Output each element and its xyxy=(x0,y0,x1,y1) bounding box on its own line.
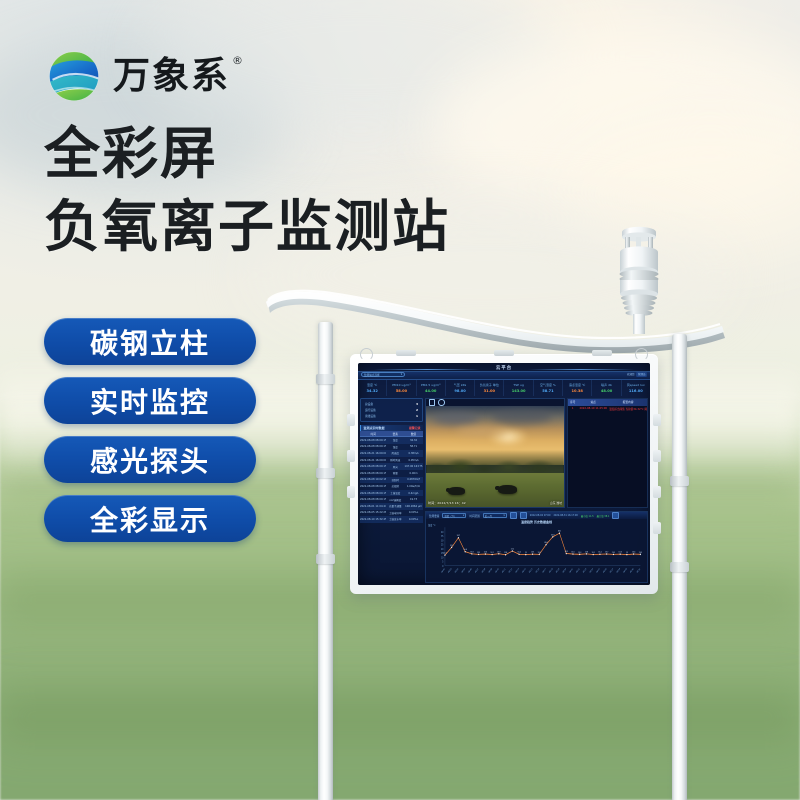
chart-x-tick: 08-04 xyxy=(455,567,460,573)
table-cell: 0.38m/s xyxy=(404,452,423,455)
chart-point-label: 13.2 xyxy=(538,552,541,554)
chart-plot-area: 温度 ℃ 051015202530354012.308-0221.508-033… xyxy=(428,524,645,581)
table-cell: 湿度 xyxy=(386,445,404,449)
chart-point-label: 13.9 xyxy=(497,551,501,553)
table-cell: 2022-08-08 08:00:15 xyxy=(360,492,386,495)
chart-point-label: 32.7 xyxy=(457,535,460,537)
chart-x-tick: 08-13 xyxy=(515,568,519,574)
station-select-value: 监测站点选择 xyxy=(364,373,380,377)
table-cell: 温度 xyxy=(386,438,404,442)
table-cell: 光量子通量 xyxy=(386,504,404,508)
table-row[interactable]: 2022-08-08 08:00:15co2溶解度19.73 xyxy=(360,496,423,503)
metric-9: 噪声 db48.00 xyxy=(592,380,621,396)
user-welcome: 欢迎您 xyxy=(627,372,635,376)
headline-line-1: 全彩屏 xyxy=(44,126,450,185)
camera-timestamp: 时间：2022/7/13 16：42 xyxy=(428,501,466,505)
metric-label: PM2.5 ug/m³ xyxy=(421,383,440,387)
ultrasonic-weather-sensor xyxy=(610,222,668,334)
metric-label: 空气湿度 % xyxy=(540,383,556,387)
table-cell: 2022-08-08 08:00:15 xyxy=(360,472,386,475)
chart-point-label: 13 xyxy=(525,552,527,554)
table-row[interactable]: 2022-08-08 08:00:15温度34.32 xyxy=(360,437,423,444)
status-value: 3 xyxy=(416,402,418,406)
chart-x-tick: 08-10 xyxy=(495,567,500,573)
alarm-row[interactable]: 12022-08-10 11:25:00温度超出阈值 当前值34.32℃ 阈值3… xyxy=(568,406,647,412)
chart-point-label: 13.5 xyxy=(619,551,622,553)
table-cell: 风向 xyxy=(386,465,404,469)
cabinet-tab xyxy=(396,350,416,356)
chart-x-tick: 08-12 xyxy=(509,568,513,574)
table-cell: 日照时 xyxy=(386,478,404,482)
chart-point-label: 17.2 xyxy=(511,548,514,550)
alarm-cell: 1 xyxy=(568,407,577,410)
chart-x-tick: 08-29 xyxy=(623,567,628,573)
alarm-col-station: 站点 xyxy=(577,400,609,404)
chart-x-tick: 08-28 xyxy=(616,567,621,573)
table-cell: 19.73 xyxy=(404,498,423,501)
table-cell: 0.95m/s xyxy=(404,459,423,462)
chart-x-tick: 08-11 xyxy=(502,568,506,574)
status-value: 1 xyxy=(416,414,418,418)
status-key: 离线设备 xyxy=(365,414,376,418)
metric-label: 温度 ℃ xyxy=(367,383,377,387)
table-cell: 1.00w/h/m xyxy=(404,485,423,488)
chart-point-label: 13.8 xyxy=(470,551,474,553)
chart-point-label: 13.4 xyxy=(598,552,602,554)
chart-point-label: 16.4 xyxy=(464,549,468,551)
metric-label: 噪声 db xyxy=(601,383,612,387)
table-cell: 瞬时风速 xyxy=(386,458,404,462)
chevron-down-icon: ▾ xyxy=(401,373,402,376)
table-cell: 2022-08-08 08:00:15 xyxy=(360,445,386,448)
metric-2: PM10 ug/m³58.00 xyxy=(387,380,416,396)
display-cabinet: 云平台 监测站点选择 ▾ 欢迎您 管理员 温度 ℃34.32PM10 ug/m³… xyxy=(350,354,658,594)
chart-x-tick: 08-23 xyxy=(583,568,587,574)
feature-pill-full-color-display[interactable]: 全彩显示 xyxy=(44,495,256,542)
chart-controls: 监测要素 温度（℃） ▾ 时间范围 近一月 ▾ 2022-08-02 07:00 xyxy=(426,512,647,519)
table-row[interactable]: 2022-08-10 15:32:45土壤含水率0.00%L xyxy=(360,516,423,523)
chart-x-tick: 08-26 xyxy=(603,567,608,573)
table-cell: 2022-08-05 15:22:28 xyxy=(360,511,386,514)
table-cell: 2022-08-08 08:00:15 xyxy=(360,485,386,488)
chart-point-label: 13.3 xyxy=(639,552,642,554)
chart-x-tick: 08-15 xyxy=(529,568,533,574)
chart-point-label: 13.1 xyxy=(490,552,493,554)
chart-point-label: 13.6 xyxy=(571,551,575,553)
column-header-time: 时间 xyxy=(360,432,386,436)
chevron-down-icon: ▾ xyxy=(463,514,464,517)
metric-value: 98.00 xyxy=(454,389,465,393)
chart-x-tick: 08-07 xyxy=(475,568,479,574)
chart-x-tick: 08-30 xyxy=(630,567,635,573)
table-cell: co2溶解度 xyxy=(386,498,404,502)
metric-strip: 温度 ℃34.32PM10 ug/m³58.00PM2.5 ug/m³44.00… xyxy=(358,380,650,396)
status-key: 运行设备 xyxy=(365,408,376,412)
device-status-row: 离线设备1 xyxy=(365,414,418,418)
chart-y-tick: 35 xyxy=(441,535,444,538)
chart-element-select[interactable]: 温度（℃） ▾ xyxy=(442,513,466,518)
table-row[interactable]: 2022-08-08 10:02:18日照时0.0876lx/f xyxy=(360,477,423,484)
chart-y-unit: 温度 ℃ xyxy=(428,523,436,527)
metric-value: 10.38 xyxy=(572,389,583,393)
post-joint xyxy=(670,476,689,486)
table-row[interactable]: 2022-08-21 16:00:00瞬时风速0.95m/s xyxy=(360,457,423,464)
table-cell: 106.1864 μm xyxy=(404,505,423,508)
globe-swoosh-logo-icon xyxy=(44,44,104,106)
column-header-value: 数值 xyxy=(404,432,423,436)
chart-element-value: 温度（℃） xyxy=(444,514,456,518)
chart-point-label: 12.3 xyxy=(443,552,446,554)
table-row[interactable]: 2022-08-08 08:00:15湿度58.71 xyxy=(360,444,423,451)
status-key: 总设备 xyxy=(365,402,373,406)
trend-line-chart: 051015202530354012.308-0221.508-0332.708… xyxy=(428,524,645,581)
cabinet-vent xyxy=(653,522,661,534)
chart-point-label: 21.5 xyxy=(450,545,453,547)
table-cell: 34.32 xyxy=(404,439,423,442)
feature-pill-carbon-steel-post[interactable]: 碳钢立柱 xyxy=(44,318,256,365)
chart-x-tick: 08-24 xyxy=(590,567,595,573)
table-row[interactable]: 2022-08-08 08:00:15总辐射1.00w/h/m xyxy=(360,483,423,490)
device-status-row: 运行设备2 xyxy=(365,408,418,412)
table-cell: 2022-08-08 10:02:18 xyxy=(360,478,386,481)
table-cell: 风速度 xyxy=(386,451,404,455)
metric-label: 气压 kPa xyxy=(454,383,466,387)
camera-cloud xyxy=(433,412,479,425)
metric-value: 31.00 xyxy=(484,389,495,393)
chart-y-tick: 5 xyxy=(442,560,444,563)
chart-y-tick: 30 xyxy=(441,539,444,542)
chevron-down-icon: ▾ xyxy=(504,514,505,517)
brand-logo: 万象系 ® xyxy=(44,44,230,106)
table-cell: 2022-08-21 16:00:00 xyxy=(360,452,386,455)
metric-value: 116.00 xyxy=(629,389,643,393)
trend-chart-panel: 监测要素 温度（℃） ▾ 时间范围 近一月 ▾ 2022-08-02 07:00 xyxy=(425,511,648,583)
chart-element-label: 监测要素 xyxy=(429,514,439,518)
table-cell: 2022-08-01 11:04:47 xyxy=(360,505,386,508)
metric-1: 温度 ℃34.32 xyxy=(358,380,387,396)
cabinet-vent xyxy=(653,486,661,498)
chart-point-label: 13.6 xyxy=(632,551,636,553)
table-row[interactable]: 2022-08-08 08:00:15土壤温度0.4mg/L xyxy=(360,490,423,497)
support-post-right xyxy=(672,334,687,800)
chart-point-label: 13.8 xyxy=(585,551,589,553)
feature-pill-light-sensor-probe[interactable]: 感光探头 xyxy=(44,436,256,483)
table-cell: 土壤温度 xyxy=(386,491,404,495)
camera-live-view: 时间：2022/7/13 16：42 山东 潍坊 xyxy=(426,406,564,507)
chart-axes xyxy=(445,527,640,565)
chart-point-label: 13.4 xyxy=(517,552,521,554)
chart-point-label: 13.3 xyxy=(578,552,581,554)
device-status-row: 总设备3 xyxy=(365,402,418,406)
metric-6: TSP ug143.00 xyxy=(504,380,533,396)
metric-label: 负氧离子 单位 xyxy=(480,383,499,387)
camera-toolbar xyxy=(426,399,564,406)
chart-point-label: 13.6 xyxy=(484,551,488,553)
alarm-panel: 序号 站点 报警内容 12022-08-10 11:25:00温度超出阈值 当前… xyxy=(567,398,648,508)
cabinet-vent xyxy=(347,450,355,462)
metric-label: 风speed lux xyxy=(627,383,645,387)
camera-cow xyxy=(448,487,465,495)
table-cell: 2022-08-21 16:00:00 xyxy=(360,459,386,462)
metric-5: 负氧离子 单位31.00 xyxy=(475,380,504,396)
chart-x-tick: 08-05 xyxy=(461,568,465,574)
monitoring-station: 云平台 监测站点选择 ▾ 欢迎您 管理员 温度 ℃34.32PM10 ug/m³… xyxy=(262,222,762,782)
chart-x-tick: 08-20 xyxy=(563,567,568,573)
status-value: 2 xyxy=(416,408,418,412)
cabinet-vent xyxy=(653,414,661,426)
camera-cloud xyxy=(492,409,552,424)
cabinet-vent xyxy=(653,450,661,462)
brand-name: 万象系 ® xyxy=(113,57,230,94)
metric-7: 空气湿度 %58.71 xyxy=(534,380,563,396)
user-area[interactable]: 欢迎您 管理员 xyxy=(627,372,647,377)
support-post-left xyxy=(318,322,333,800)
table-row[interactable]: 2022-08-05 15:22:28土壤电导率0.00%L xyxy=(360,510,423,517)
chart-x-tick: 08-18 xyxy=(549,567,554,573)
metric-value: 48.00 xyxy=(601,389,612,393)
table-cell: 0.00%L xyxy=(404,518,423,521)
metric-label: 露点温度 ℃ xyxy=(569,383,585,387)
chart-query-button[interactable] xyxy=(612,512,619,519)
table-cell: 土壤电导率 xyxy=(386,511,404,515)
data-table-title: 监测点实时数据 xyxy=(364,426,385,430)
table-cell: 197.00 16±75 xyxy=(404,465,423,468)
metric-label: PM10 ug/m³ xyxy=(392,383,410,387)
chart-legend-min: 最小值 11.5 xyxy=(581,514,594,518)
post-joint xyxy=(316,468,335,478)
chart-view-table-button[interactable] xyxy=(510,512,517,519)
post-joint xyxy=(670,562,689,572)
table-cell: 0.00m xyxy=(404,472,423,475)
station-select[interactable]: 监测站点选择 ▾ xyxy=(361,372,405,377)
table-row[interactable]: 2022-08-21 16:00:00风速度0.38m/s xyxy=(360,450,423,457)
post-joint xyxy=(316,374,335,384)
dashboard-title: 云平台 xyxy=(358,365,650,371)
chart-x-tick: 08-21 xyxy=(569,568,573,574)
snapshot-icon[interactable] xyxy=(438,399,445,406)
metric-10: 风speed lux116.00 xyxy=(622,380,650,396)
chart-x-tick: 08-03 xyxy=(448,568,452,574)
metric-8: 露点温度 ℃10.38 xyxy=(563,380,592,396)
data-table-body: 2022-08-08 08:00:15温度34.322022-08-08 08:… xyxy=(360,437,423,523)
metric-value: 58.71 xyxy=(542,389,553,393)
table-row[interactable]: 2022-08-08 08:00:15风向197.00 16±75 xyxy=(360,463,423,470)
alarm-col-index: 序号 xyxy=(568,400,577,404)
table-cell: 0.0876lx/f xyxy=(404,478,423,481)
product-marketing-image: 万象系 ® 全彩屏 负氧离子监测站 碳钢立柱 实时监控 感光探头 全彩显示 xyxy=(0,0,800,800)
chart-point-label: 13.5 xyxy=(531,551,534,553)
table-cell: 2022-08-08 08:00:15 xyxy=(360,498,386,501)
chart-y-tick: 20 xyxy=(441,548,444,551)
chart-range-select[interactable]: 近一月 ▾ xyxy=(483,513,507,518)
table-row[interactable]: 2022-08-01 11:04:47光量子通量106.1864 μm xyxy=(360,503,423,510)
alarm-cell: 2022-08-10 11:25:00 xyxy=(577,407,609,410)
chart-x-tick: 08-19 xyxy=(556,567,561,573)
left-panel: 总设备3运行设备2离线设备1 监测点实时数据 报警记录 时间 要素 数值 202… xyxy=(360,398,423,583)
chart-range-label: 时间范围 xyxy=(469,514,479,518)
chart-point-label: 38.1 xyxy=(558,530,561,532)
device-status-box: 总设备3运行设备2离线设备1 xyxy=(360,398,423,422)
chart-point-label: 14.2 xyxy=(565,551,568,553)
radiation-shield-rings xyxy=(620,270,659,316)
alarm-cell: 温度超出阈值 当前值34.32℃ 阈值30℃ xyxy=(609,407,647,411)
chart-point-label: 13.1 xyxy=(592,552,595,554)
chart-point-label: 13 xyxy=(626,552,628,554)
chart-x-tick: 08-06 xyxy=(468,567,473,573)
chart-y-tick: 25 xyxy=(441,543,444,546)
alarm-rows: 12022-08-10 11:25:00温度超出阈值 当前值34.32℃ 阈值3… xyxy=(568,406,647,412)
chart-x-tick: 08-31 xyxy=(637,568,641,574)
chart-export-button[interactable] xyxy=(520,512,527,519)
fullscreen-icon[interactable] xyxy=(429,399,436,406)
table-cell: 58.71 xyxy=(404,445,423,448)
chart-x-tick: 08-17 xyxy=(542,568,546,574)
table-cell: 2022-08-08 08:00:15 xyxy=(360,439,386,442)
post-joint xyxy=(316,554,335,564)
trademark-symbol: ® xyxy=(232,55,245,66)
metric-value: 44.00 xyxy=(425,389,436,393)
cabinet-hook xyxy=(635,348,648,361)
chart-point-label: 13.2 xyxy=(612,552,615,554)
chart-x-tick: 08-08 xyxy=(482,567,487,573)
camera-cow xyxy=(498,485,517,494)
table-cell: 2022-08-10 15:32:45 xyxy=(360,518,386,521)
cabinet-vent xyxy=(347,486,355,498)
feature-pill-list: 碳钢立柱 实时监控 感光探头 全彩显示 xyxy=(44,318,256,542)
chart-x-tick: 08-22 xyxy=(576,568,580,574)
cabinet-tab xyxy=(592,350,612,356)
chart-x-tick: 08-09 xyxy=(488,567,493,573)
chart-range-value: 近一月 xyxy=(485,514,492,518)
alarm-col-content: 报警内容 xyxy=(609,400,647,404)
led-dashboard-screen[interactable]: 云平台 监测站点选择 ▾ 欢迎您 管理员 温度 ℃34.32PM10 ug/m³… xyxy=(358,363,650,585)
table-cell: 2022-08-08 08:00:15 xyxy=(360,465,386,468)
chart-y-tick: 10 xyxy=(441,556,444,559)
chart-date-end[interactable]: 2022-08-31 16:17:00 xyxy=(553,514,577,517)
chart-y-tick: 40 xyxy=(441,531,444,534)
alarm-records-badge[interactable]: 报警记录 xyxy=(409,426,421,430)
camera-panel[interactable]: 时间：2022/7/13 16：42 山东 潍坊 xyxy=(425,398,565,508)
table-cell: 0.4mg/L xyxy=(404,492,423,495)
feature-pill-realtime-monitoring[interactable]: 实时监控 xyxy=(44,377,256,424)
chart-x-tick: 08-27 xyxy=(610,568,614,574)
chart-x-tick: 08-16 xyxy=(536,567,541,573)
sensor-mast xyxy=(633,314,645,334)
cabinet-vent xyxy=(347,414,355,426)
metric-label: TSP ug xyxy=(513,383,524,387)
chart-x-tick: 08-25 xyxy=(596,568,600,574)
brand-name-text: 万象系 xyxy=(113,54,230,97)
camera-watermark: 山东 潍坊 xyxy=(550,501,562,505)
chart-x-tick: 08-14 xyxy=(522,567,527,573)
chart-legend-max: 最大值 38.1 xyxy=(597,514,610,518)
chart-x-tick: 08-02 xyxy=(441,568,445,574)
table-cell: 总辐射 xyxy=(386,484,404,488)
cabinet-tab xyxy=(494,350,514,356)
metric-value: 58.00 xyxy=(396,389,407,393)
table-cell: 雨量 xyxy=(386,471,404,475)
metric-value: 34.32 xyxy=(366,389,377,393)
table-cell: 土壤含水率 xyxy=(386,517,404,521)
metric-3: PM2.5 ug/m³44.00 xyxy=(417,380,446,396)
chart-point-label: 13.7 xyxy=(605,551,608,553)
metric-4: 气压 kPa98.00 xyxy=(446,380,475,396)
metric-value: 143.00 xyxy=(512,389,526,393)
cabinet-hook xyxy=(360,348,373,361)
chart-date-start[interactable]: 2022-08-02 07:00 xyxy=(530,514,551,517)
table-cell: 0.00%L xyxy=(404,511,423,514)
user-name: 管理员 xyxy=(636,372,647,377)
chart-point-label: 13.2 xyxy=(477,552,480,554)
table-row[interactable]: 2022-08-08 08:00:15雨量0.00m xyxy=(360,470,423,477)
column-header-element: 要素 xyxy=(386,432,404,436)
